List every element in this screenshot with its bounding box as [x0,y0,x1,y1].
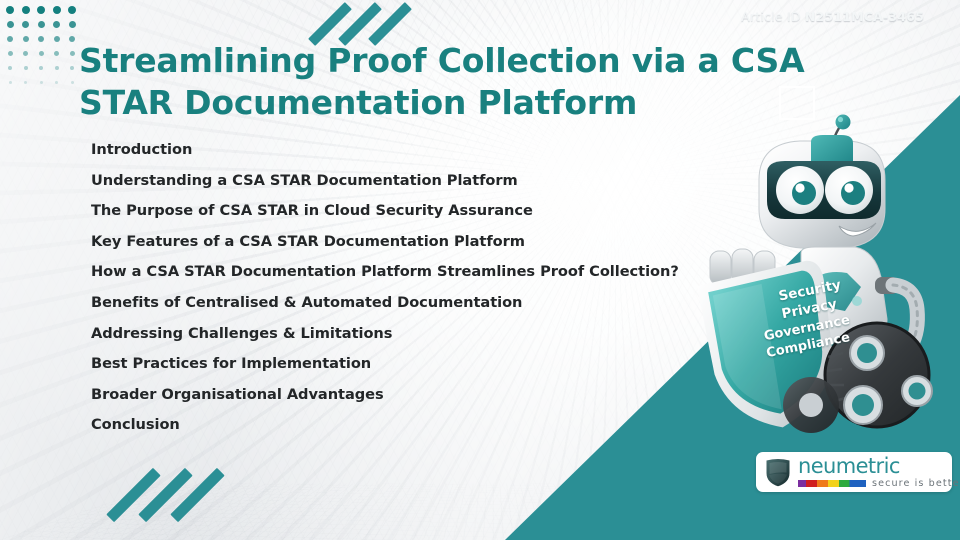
article-id: Article ID N2511MCA-3465 [741,9,924,24]
toc-item-conclusion[interactable]: Conclusion [91,410,711,441]
dot-grid-dot [7,21,14,28]
diagonal-stripes-top [325,0,445,42]
dot-grid-dot [53,6,61,14]
logo-tagline-row: secure is better [798,479,960,489]
rainbow-bar-icon [798,480,866,487]
toc-item-understanding[interactable]: Understanding a CSA STAR Documentation P… [91,166,711,197]
toc-item-best-practices[interactable]: Best Practices for Implementation [91,349,711,380]
antenna-ball [836,115,851,130]
dot-grid-dot [39,51,44,56]
toc-item-benefits[interactable]: Benefits of Centralised & Automated Docu… [91,288,711,319]
toc-item-how-streamlines[interactable]: How a CSA STAR Documentation Platform St… [91,257,711,288]
toc-item-organisational[interactable]: Broader Organisational Advantages [91,380,711,411]
toc-item-introduction[interactable]: Introduction [91,135,711,166]
article-id-label: Article ID [741,9,800,24]
dot-grid-dot [70,51,75,56]
neumetric-logo[interactable]: neumetric secure is better [756,452,952,492]
dot-grid-dot [22,6,30,14]
dot-grid-dot [54,36,60,42]
robot-mascot: Security Privacy Governance Compliance [715,105,960,435]
logo-wordmark: neumetric secure is better [798,456,960,489]
dot-grid-dot [23,36,29,42]
dot-grid-dot [55,66,59,70]
dot-grid-dot [24,66,28,70]
dot-grid-dot [38,21,45,28]
dot-grid-dot [9,81,12,84]
logo-tagline-text: secure is better [872,479,960,489]
table-of-contents: Introduction Understanding a CSA STAR Do… [91,135,711,441]
dot-grid-dot [40,81,43,84]
dot-grid-dot [69,21,76,28]
logo-brand-text: neumetric [798,456,960,477]
logo-shield-icon [765,457,791,487]
toc-item-challenges[interactable]: Addressing Challenges & Limitations [91,319,711,350]
toc-item-key-features[interactable]: Key Features of a CSA STAR Documentation… [91,227,711,258]
robot-head [759,135,885,248]
dot-grid-dot [71,81,74,84]
toc-item-purpose[interactable]: The Purpose of CSA STAR in Cloud Securit… [91,196,711,227]
diagonal-stripes-bottom [128,462,258,522]
dot-grid-dot [8,51,13,56]
article-id-value: N2511MCA-3465 [805,9,924,24]
slide-canvas: Article ID N2511MCA-3465 Streamlining Pr… [0,0,960,540]
